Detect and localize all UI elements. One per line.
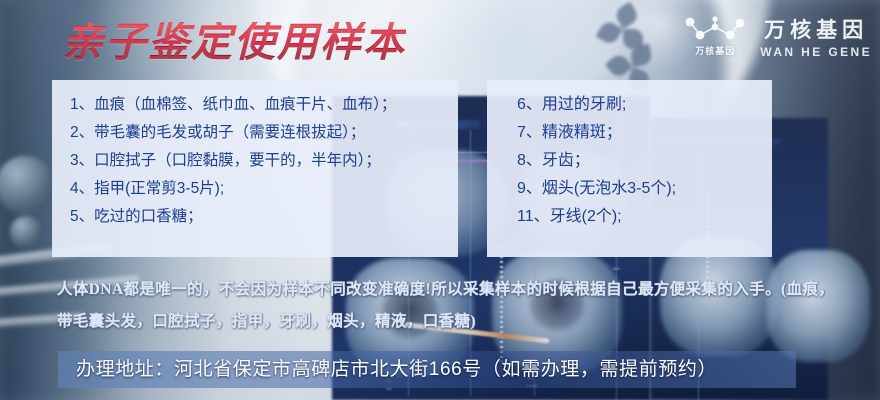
sample-list-panel-right: 6、用过的牙刷; 7、精液精斑； 8、牙齿； 9、烟头(无泡水3-5个); 11… (487, 80, 772, 257)
page-title: 亲子鉴定使用样本 (62, 22, 406, 63)
brand-logo: 万核基因 万核基因 WAN HE GENE (684, 14, 872, 59)
brand-name-cn: 万核基因 (764, 14, 868, 44)
list-item: 8、牙齿； (517, 153, 758, 169)
brand-mark-label: 万核基因 (695, 44, 735, 57)
sample-list-panel-left: 1、血痕（血棉签、纸巾血、血痕干片、血布）； 2、带毛囊的毛发或胡子（需要连根拔… (52, 80, 458, 257)
poster-canvas: (图像2) 成人 AX T1 ZS W1 L128 Mm 亲子鉴定使用样本 (0, 0, 880, 400)
list-item: 6、用过的牙刷; (517, 97, 758, 113)
list-item: 4、指甲(正常剪3-5片); (70, 181, 444, 197)
list-item: 9、烟头(无泡水3-5个); (517, 181, 758, 197)
brand-wordmark: 万核基因 WAN HE GENE (760, 14, 872, 59)
list-item: 5、吃过的口香糖； (70, 209, 444, 225)
list-item: 2、带毛囊的毛发或胡子（需要连根拔起）； (70, 125, 444, 141)
list-item: 3、口腔拭子（口腔黏膜，要干的，半年内）； (70, 153, 444, 169)
brand-name-en: WAN HE GENE (760, 45, 872, 59)
note-paragraph: 人体DNA都是唯一的，不会因为样本不同改变准确度!所以采集样本的时候根据自己最方… (57, 274, 847, 338)
sample-list-right: 6、用过的牙刷; 7、精液精斑； 8、牙齿； 9、烟头(无泡水3-5个); 11… (517, 97, 758, 225)
dna-molecule-icon (684, 16, 746, 42)
list-item: 1、血痕（血棉签、纸巾血、血痕干片、血布）； (70, 97, 444, 113)
brand-mark: 万核基因 (684, 16, 746, 57)
list-item: 11、牙线(2个); (517, 209, 758, 225)
address-text: 办理地址：河北省保定市高碑店市北大街166号（如需办理，需提前预约） (76, 356, 717, 384)
list-item: 7、精液精斑； (517, 125, 758, 141)
sample-list-left: 1、血痕（血棉签、纸巾血、血痕干片、血布）； 2、带毛囊的毛发或胡子（需要连根拔… (70, 97, 444, 225)
